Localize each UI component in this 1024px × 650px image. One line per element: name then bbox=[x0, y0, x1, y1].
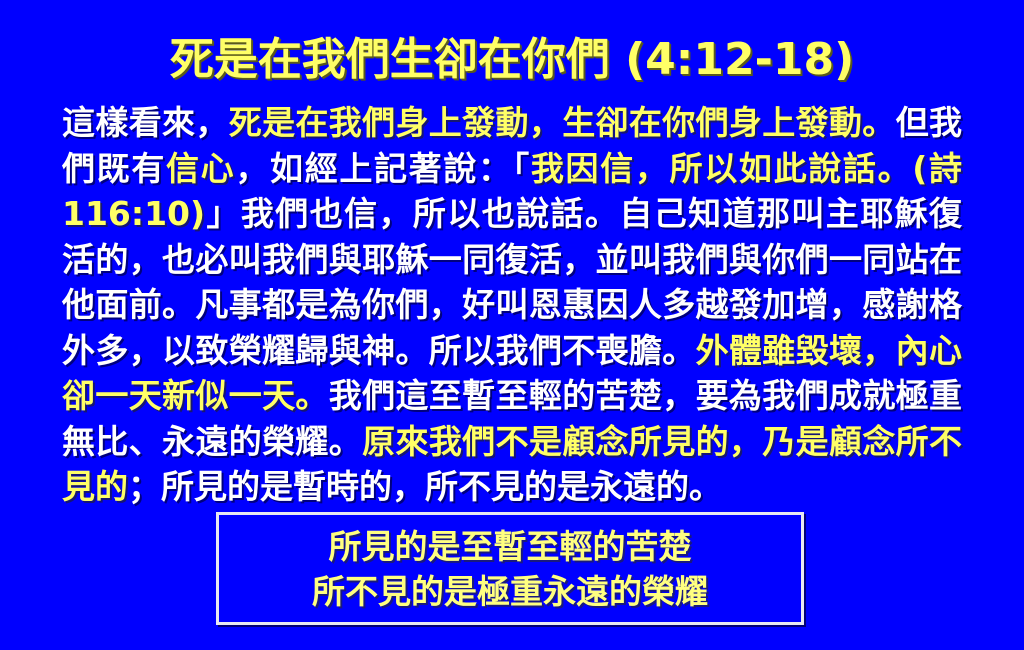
slide-canvas: 死是在我們生卻在你們 (4:12-18) 這樣看來，死是在我們身上發動，生卻在你… bbox=[0, 0, 1024, 650]
scripture-segment: 死是在我們身上發動，生卻在你們身上發動。 bbox=[229, 103, 896, 142]
scripture-segment: 信心 bbox=[166, 149, 235, 188]
callout-line-1: 所見的是至暫至輕的苦楚 bbox=[329, 524, 692, 569]
scripture-segment: ，如經上記著說：「 bbox=[235, 149, 531, 188]
callout-box: 所見的是至暫至輕的苦楚 所不見的是極重永遠的榮耀 bbox=[216, 512, 804, 625]
slide-title: 死是在我們生卻在你們 (4:12-18) bbox=[0, 34, 1024, 86]
callout-line-2: 所不見的是極重永遠的榮耀 bbox=[312, 569, 708, 614]
scripture-body: 這樣看來，死是在我們身上發動，生卻在你們身上發動。但我們既有信心，如經上記著說：… bbox=[62, 100, 962, 510]
scripture-segment: 這樣看來， bbox=[62, 103, 229, 142]
scripture-segment: ；所見的是暫時的，所不見的是永遠的。 bbox=[128, 467, 722, 506]
